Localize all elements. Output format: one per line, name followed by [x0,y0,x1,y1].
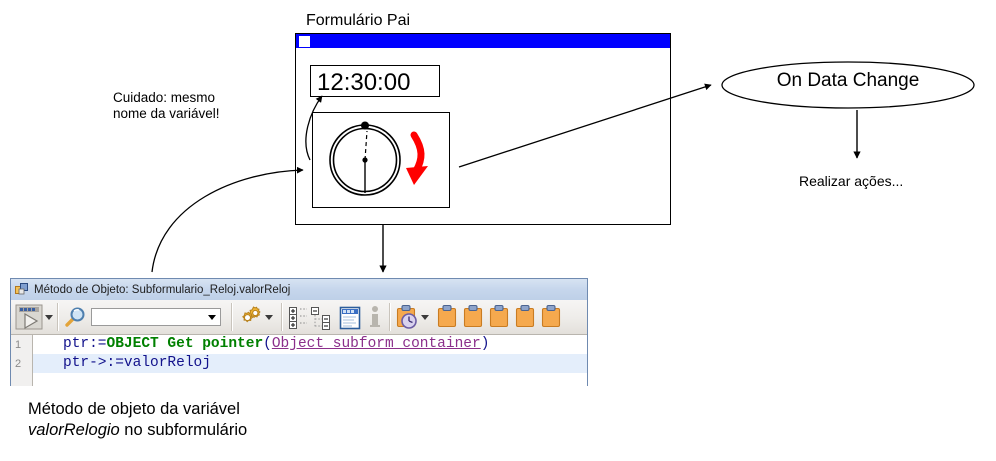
gears-icon [237,304,263,330]
object-method-icon [15,283,29,297]
caption-variable-name: valorRelogio [28,421,120,439]
clock-widget-icon [313,113,449,207]
toolbar-separator [57,303,59,331]
code-token: := [89,336,106,352]
history-button[interactable] [395,304,419,330]
form-titlebar-close-box[interactable] [299,36,310,47]
code-line[interactable]: ptr:=OBJECT Get pointer(Object subform c… [33,335,587,354]
code-token: ( [263,336,272,352]
code-editor-window[interactable]: Método de Objeto: Subformulario_Reloj.va… [10,278,588,386]
event-node-label: On Data Change [722,72,974,89]
code-token: ptr->:=valorReloj [63,355,211,371]
line-number: 1 [11,336,32,355]
code-token: Object subform container [272,336,481,352]
time-field[interactable]: 12:30:00 [310,65,440,97]
clipboard-icon [436,304,458,330]
line-number: 2 [11,355,32,374]
history-dropdown-icon[interactable] [421,315,429,320]
form-titlebar [296,34,670,48]
run-play-icon [15,304,43,330]
warning-note: Cuidado: mesmonome da variável! [113,90,220,122]
page-title: Formulário Pai [306,12,410,30]
run-method-dropdown-icon[interactable] [45,315,53,320]
bottom-caption: Método de objeto da variávelvalorRelogio… [28,399,247,441]
event-action-label: Realizar ações... [799,173,903,190]
clipboard-1-button[interactable] [436,304,458,330]
clipboard-icon [462,304,484,330]
macro-button[interactable] [337,304,363,330]
caption-line1: Método de objeto da variável [28,400,240,418]
collapse-all-button[interactable] [309,304,337,330]
connector-method-to-subform [152,170,303,272]
clipboard-clock-icon [395,304,419,330]
info-icon [365,304,385,330]
clipboard-icon [488,304,510,330]
code-token: ) [481,336,490,352]
time-field-value: 12:30:00 [317,69,410,97]
clipboard-2-button[interactable] [462,304,484,330]
editor-toolbar [11,300,587,335]
parent-form-window: 12:30:00 [295,33,671,225]
toolbar-separator [389,303,391,331]
clipboard-icon [540,304,562,330]
clipboard-4-button[interactable] [514,304,536,330]
code-token: ptr [63,336,89,352]
code-line[interactable]: ptr->:=valorReloj [33,354,587,373]
warning-note-line2: nome da variável! [113,106,220,121]
warning-note-line1: Cuidado: mesmo [113,90,215,105]
preferences-dropdown-icon[interactable] [265,315,273,320]
editor-titlebar: Método de Objeto: Subformulario_Reloj.va… [11,279,587,300]
expand-all-icon [287,304,309,330]
clock-subform-container[interactable] [312,112,450,208]
combo-dropdown-icon[interactable] [208,315,216,320]
code-token: OBJECT Get pointer [107,336,264,352]
caption-line2-rest: no subformulário [120,421,247,439]
clipboard-icon [514,304,536,330]
editor-title-text: Método de Objeto: Subformulario_Reloj.va… [34,284,290,296]
preferences-button[interactable] [237,304,263,330]
toolbar-separator [281,303,283,331]
code-editor-area[interactable]: 1 2 ptr:=OBJECT Get pointer(Object subfo… [11,335,587,386]
line-number-gutter: 1 2 [11,335,33,386]
document-macro-icon [337,304,363,330]
code-lines[interactable]: ptr:=OBJECT Get pointer(Object subform c… [33,335,587,386]
search-input[interactable] [91,308,221,326]
expand-all-button[interactable] [287,304,309,330]
clipboard-3-button[interactable] [488,304,510,330]
info-button[interactable] [365,304,385,330]
run-method-button[interactable] [15,304,43,330]
collapse-all-icon [309,304,337,330]
clipboard-5-button[interactable] [540,304,562,330]
search-button[interactable] [63,305,87,329]
magnifier-icon [63,305,87,329]
toolbar-separator [231,303,233,331]
